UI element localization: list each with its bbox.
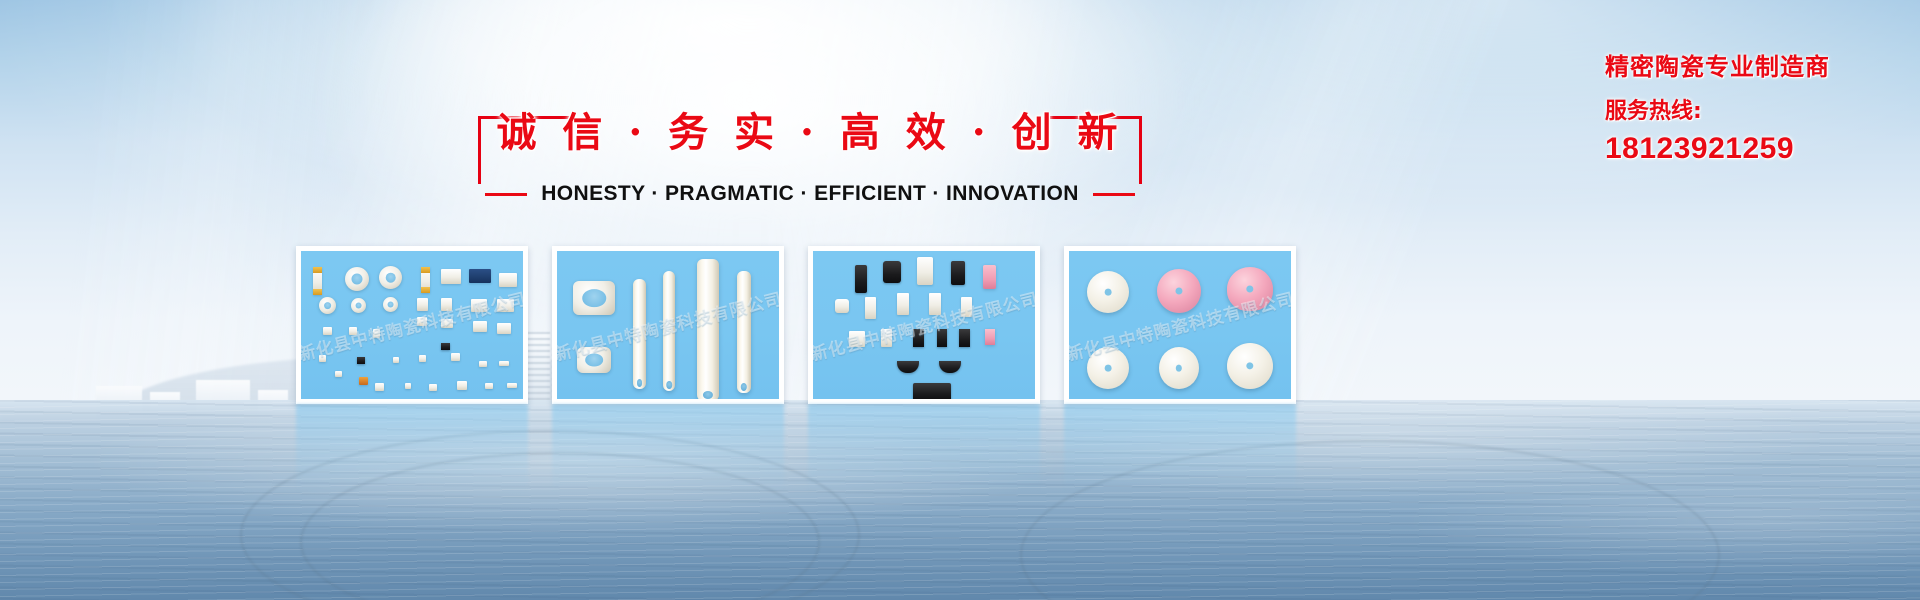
ceramic-part — [959, 329, 970, 347]
ceramic-part — [429, 384, 437, 391]
ceramic-part — [319, 355, 326, 362]
product-panel-1[interactable]: 新化县中特陶瓷科技有限公司 — [296, 246, 528, 404]
ceramic-part — [951, 261, 965, 285]
ceramic-part — [345, 267, 369, 291]
ceramic-disc — [1087, 271, 1129, 313]
ceramic-part — [441, 269, 461, 284]
ceramic-part — [485, 383, 493, 389]
ceramic-part — [983, 265, 996, 289]
panel-image-discs: 新化县中特陶瓷科技有限公司 — [1069, 251, 1291, 399]
panel-image-tubes: 新化县中特陶瓷科技有限公司 — [557, 251, 779, 399]
ceramic-part — [913, 383, 951, 399]
ceramic-part — [393, 357, 399, 363]
ceramic-part — [451, 353, 460, 361]
ceramic-disc — [1087, 347, 1129, 389]
slogan-block: 诚 信 · 务 实 · 高 效 · 创 新 HONESTY · PRAGMATI… — [470, 104, 1150, 214]
ceramic-part — [417, 298, 428, 311]
ceramic-part — [499, 273, 517, 287]
ceramic-part — [497, 299, 514, 312]
ceramic-part — [473, 321, 487, 332]
ceramic-part — [507, 383, 517, 388]
ceramic-part — [497, 323, 511, 334]
ceramic-part — [897, 361, 919, 373]
ceramic-disc — [1157, 269, 1201, 313]
ceramic-part — [357, 357, 365, 364]
ceramic-part — [835, 299, 849, 313]
ceramic-part — [441, 298, 452, 311]
ceramic-part — [855, 265, 867, 293]
ceramic-part — [349, 327, 357, 335]
contact-info-block: 精密陶瓷专业制造商 服务热线: 18123921259 — [1605, 50, 1830, 168]
ceramic-part — [421, 267, 430, 293]
panel-watermark: 新化县中特陶瓷科技有限公司 — [301, 285, 523, 366]
slogan-english-row: HONESTY · PRAGMATIC · EFFICIENT · INNOVA… — [440, 182, 1180, 206]
ceramic-part — [375, 383, 384, 391]
ceramic-part — [881, 329, 892, 347]
hotline-label: 服务热线: — [1605, 94, 1830, 130]
ceramic-part — [913, 329, 924, 347]
ceramic-part — [373, 329, 380, 338]
ceramic-part — [379, 266, 402, 289]
ceramic-part — [849, 331, 865, 347]
ceramic-part — [471, 299, 487, 312]
rule-left — [485, 193, 527, 196]
ceramic-part — [961, 297, 972, 317]
ceramic-part — [985, 329, 995, 345]
ceramic-part — [937, 329, 947, 347]
ceramic-part — [939, 361, 961, 373]
ceramic-tube — [737, 271, 751, 393]
ceramic-part — [469, 269, 491, 283]
ceramic-part — [359, 377, 368, 385]
product-panel-3[interactable]: 新化县中特陶瓷科技有限公司 — [808, 246, 1040, 404]
ceramic-part — [319, 297, 336, 314]
ceramic-part — [457, 381, 467, 390]
hero-banner: 新化县中特陶瓷科技有限公司 新化县中特陶瓷科技有限公司 — [0, 0, 1920, 600]
ceramic-part — [917, 257, 933, 285]
ceramic-part — [897, 293, 909, 315]
ceramic-tube — [633, 279, 646, 389]
ceramic-tube — [663, 271, 675, 391]
ceramic-part — [883, 261, 901, 283]
wet-ground — [0, 400, 1920, 600]
ceramic-disc — [1227, 343, 1273, 389]
ceramic-part — [929, 293, 941, 315]
ceramic-part — [479, 361, 487, 367]
ceramic-ring — [577, 347, 611, 373]
panel-watermark: 新化县中特陶瓷科技有限公司 — [813, 285, 1035, 366]
slogan-chinese: 诚 信 · 务 实 · 高 效 · 创 新 — [470, 104, 1150, 162]
product-panel-4[interactable]: 新化县中特陶瓷科技有限公司 — [1064, 246, 1296, 404]
ceramic-part — [405, 383, 411, 389]
company-tagline: 精密陶瓷专业制造商 — [1605, 50, 1830, 84]
hotline-number[interactable]: 18123921259 — [1605, 130, 1830, 168]
ceramic-part — [441, 343, 450, 350]
product-panel-strip: 新化县中特陶瓷科技有限公司 新化县中特陶瓷科技有限公司 — [296, 246, 1576, 404]
rule-right — [1093, 193, 1135, 196]
ceramic-part — [865, 297, 876, 319]
ceramic-part — [323, 327, 332, 335]
ceramic-part — [313, 267, 322, 295]
panel-image-blocks: 新化县中特陶瓷科技有限公司 — [813, 251, 1035, 399]
ceramic-tube — [697, 259, 719, 399]
ceramic-part — [383, 297, 398, 312]
ceramic-part — [417, 317, 427, 326]
ceramic-part — [335, 371, 342, 377]
slogan-english: HONESTY · PRAGMATIC · EFFICIENT · INNOVA… — [541, 182, 1079, 206]
ceramic-disc — [1227, 267, 1273, 311]
ceramic-part — [441, 319, 453, 328]
ceramic-part — [419, 355, 426, 362]
ceramic-disc — [1159, 347, 1199, 389]
product-panel-2[interactable]: 新化县中特陶瓷科技有限公司 — [552, 246, 784, 404]
ceramic-part — [499, 361, 509, 366]
ceramic-ring — [573, 281, 615, 315]
panel-image-chips: 新化县中特陶瓷科技有限公司 — [301, 251, 523, 399]
ceramic-part — [351, 298, 366, 313]
